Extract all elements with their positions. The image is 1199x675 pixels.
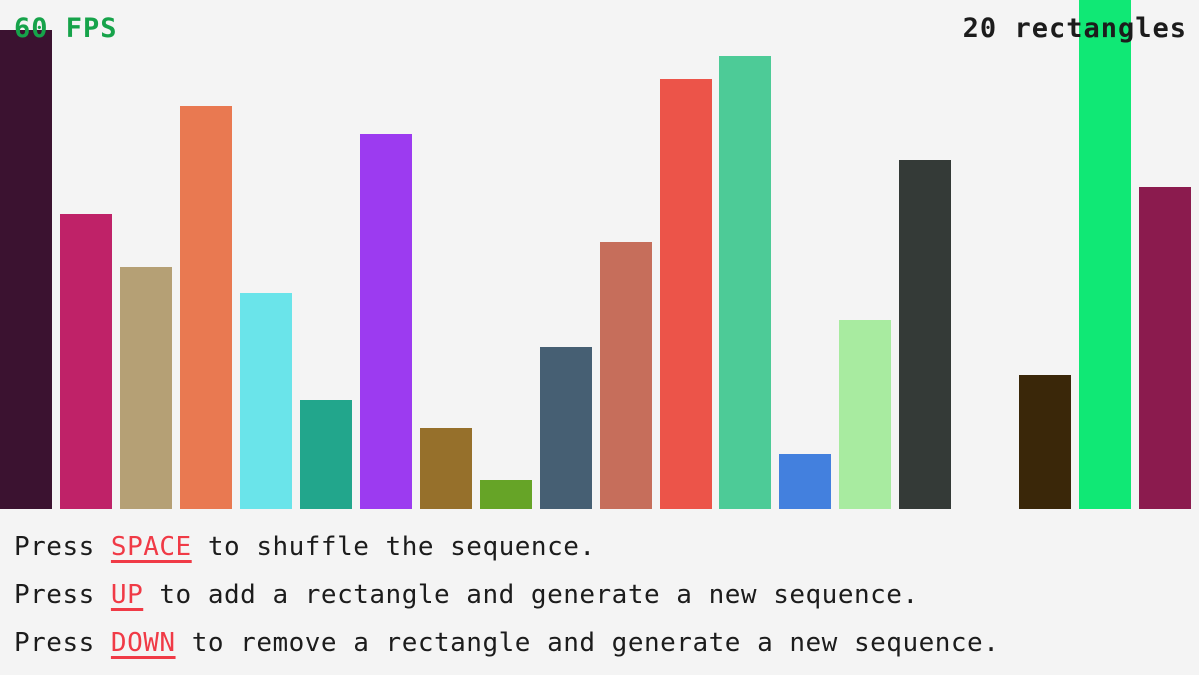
bar-rectangle xyxy=(480,480,532,509)
rectangle-count-label: 20 rectangles xyxy=(963,15,1187,42)
bar-rectangle xyxy=(300,400,352,509)
bar-rectangle xyxy=(60,214,112,509)
bar-rectangle xyxy=(420,428,472,509)
bar-rectangle xyxy=(719,56,771,509)
key-hint-space[interactable]: SPACE xyxy=(111,532,192,562)
bar-rectangle xyxy=(600,242,652,509)
bar-rectangle xyxy=(180,106,232,509)
bar-rectangle xyxy=(540,347,592,509)
instruction-line-1: Press SPACE to shuffle the sequence. xyxy=(14,523,1199,571)
bar-rectangle xyxy=(1079,0,1131,509)
bar-rectangle xyxy=(660,79,712,509)
rectangle-chart xyxy=(0,0,1199,509)
fps-counter: 60 FPS xyxy=(14,15,118,42)
instruction-prefix: Press xyxy=(14,628,111,658)
app-canvas: 60 FPS 20 rectangles Press SPACE to shuf… xyxy=(0,0,1199,675)
key-hint-down[interactable]: DOWN xyxy=(111,628,176,658)
bar-rectangle xyxy=(1139,187,1191,509)
instructions-panel: Press SPACE to shuffle the sequence.Pres… xyxy=(0,509,1199,675)
instruction-line-2: Press UP to add a rectangle and generate… xyxy=(14,571,1199,619)
instruction-suffix: to add a rectangle and generate a new se… xyxy=(143,580,918,610)
bar-rectangle xyxy=(120,267,172,509)
instruction-suffix: to remove a rectangle and generate a new… xyxy=(176,628,1000,658)
bar-rectangle xyxy=(360,134,412,509)
bar-rectangle xyxy=(1019,375,1071,509)
bar-rectangle xyxy=(779,454,831,509)
instruction-suffix: to shuffle the sequence. xyxy=(192,532,596,562)
instruction-line-3: Press DOWN to remove a rectangle and gen… xyxy=(14,619,1199,667)
key-hint-up[interactable]: UP xyxy=(111,580,143,610)
bar-rectangle xyxy=(240,293,292,509)
instruction-prefix: Press xyxy=(14,580,111,610)
instruction-prefix: Press xyxy=(14,532,111,562)
bar-rectangle xyxy=(0,30,52,509)
bar-rectangle xyxy=(839,320,891,509)
bar-rectangle xyxy=(899,160,951,509)
